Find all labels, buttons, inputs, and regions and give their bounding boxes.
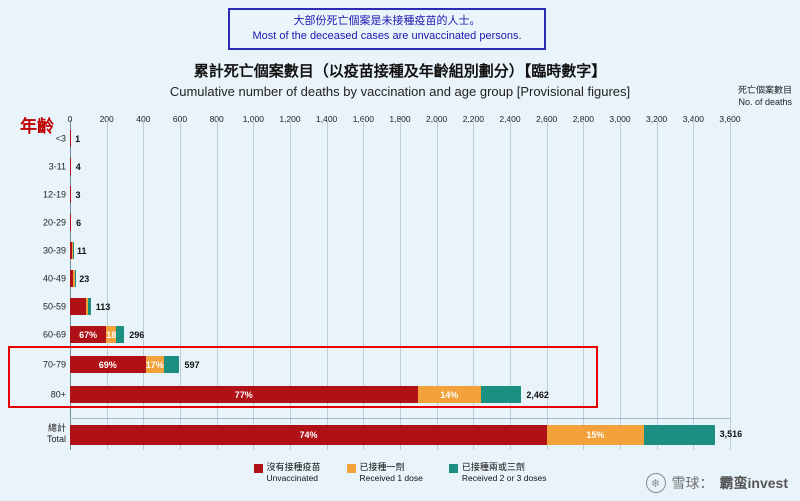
snowball-logo-icon: ❄	[646, 473, 666, 493]
bar-total-label: 296	[129, 330, 144, 340]
bar-segment	[88, 298, 91, 315]
legend-swatch	[449, 464, 458, 473]
bar-segment	[70, 130, 71, 147]
legend-swatch	[347, 464, 356, 473]
bar-total-label: 4	[76, 162, 81, 172]
bar-total-label: 23	[79, 274, 89, 284]
legend-label: 已接種兩或三劑Received 2 or 3 doses	[462, 462, 547, 484]
bar-segment	[644, 425, 715, 445]
y-axis-row-label: 40-49	[43, 273, 66, 284]
deaths-axis-label: 死亡個案數目 No. of deaths	[738, 84, 792, 108]
y-axis-row-label: 3-11	[49, 161, 66, 172]
y-axis-row-label: 12-19	[43, 189, 66, 200]
watermark-user: 霸蛮invest	[720, 473, 788, 493]
bar-segment	[70, 214, 71, 231]
bar-row	[70, 298, 91, 315]
y-axis-row-label: 60-69	[43, 329, 66, 340]
legend-label-en: Unvaccinated	[267, 473, 321, 484]
bar-row	[70, 186, 71, 203]
bar-row	[70, 158, 71, 175]
total-separator	[70, 418, 730, 419]
legend-swatch	[254, 464, 263, 473]
bar-total-label: 1	[75, 134, 80, 144]
legend-label-cn: 已接種一劑	[360, 462, 423, 473]
bar-total-label: 3,516	[720, 429, 743, 439]
bar-segment	[70, 186, 71, 203]
watermark-brand: 雪球：	[672, 473, 714, 493]
legend-label-cn: 已接種兩或三劑	[462, 462, 547, 473]
bar-row	[70, 214, 71, 231]
bar-segment: 15%	[547, 425, 644, 445]
legend-label-cn: 沒有接種疫苗	[267, 462, 321, 473]
legend-label: 已接種一劑Received 1 dose	[360, 462, 423, 484]
bar-total-label: 113	[96, 302, 111, 312]
y-axis-row-label: 70-79	[43, 359, 66, 370]
y-axis-row-label: <3	[56, 133, 66, 144]
bar-row	[70, 242, 74, 259]
legend-item[interactable]: 已接種一劑Received 1 dose	[347, 462, 423, 484]
watermark: ❄ 雪球： 霸蛮invest	[646, 473, 788, 493]
gridline	[693, 120, 694, 450]
bar-segment: 67%	[70, 326, 106, 343]
bar-segment	[70, 298, 86, 315]
bar-total-label: 11	[77, 246, 87, 256]
legend-item[interactable]: 已接種兩或三劑Received 2 or 3 doses	[449, 462, 547, 484]
bar-row	[70, 270, 76, 287]
bar-row	[70, 130, 71, 147]
legend-label-en: Received 2 or 3 doses	[462, 473, 547, 484]
bar-segment-percent: 18%	[106, 330, 116, 340]
bar-segment	[75, 270, 76, 287]
y-axis-row-label: 50-59	[43, 301, 66, 312]
bar-segment-percent: 15%	[547, 430, 644, 440]
gridline	[657, 120, 658, 450]
gridline	[620, 120, 621, 450]
deaths-axis-label-cn: 死亡個案數目	[738, 84, 792, 96]
bar-total-label: 3	[76, 190, 81, 200]
bar-segment: 18%	[106, 326, 116, 343]
bar-row: 67%18%	[70, 326, 124, 343]
page-title-cn: 累計死亡個案數目（以疫苗接種及年齡組別劃分）【臨時數字】	[0, 60, 800, 81]
age-axis-label: 年齡	[20, 112, 54, 137]
chart-plot-area: 1436112311367%18%29669%17%59777%14%2,462…	[70, 120, 730, 450]
legend-label-en: Received 1 dose	[360, 473, 423, 484]
bar-segment	[70, 158, 71, 175]
y-axis-row-label: 80+	[51, 389, 66, 400]
bar-row: 74%15%	[70, 425, 715, 445]
bar-total-label: 6	[76, 218, 81, 228]
callout-box: 大部份死亡個案是未接種疫苗的人士。 Most of the deceased c…	[228, 8, 546, 50]
bar-segment-percent: 74%	[70, 430, 547, 440]
bar-segment	[73, 242, 74, 259]
bar-segment	[116, 326, 124, 343]
y-axis-row-label: 30-39	[43, 245, 66, 256]
page-title-en: Cumulative number of deaths by vaccinati…	[0, 84, 800, 99]
legend-item[interactable]: 沒有接種疫苗Unvaccinated	[254, 462, 321, 484]
gridline	[730, 120, 731, 450]
deaths-axis-label-en: No. of deaths	[738, 96, 792, 108]
y-axis-row-label: 總計Total	[47, 423, 66, 445]
callout-text-en: Most of the deceased cases are unvaccina…	[252, 29, 521, 44]
bar-segment-percent: 67%	[70, 330, 106, 340]
highlight-box	[8, 346, 598, 408]
y-axis-row-label: 20-29	[43, 217, 66, 228]
callout-text-cn: 大部份死亡個案是未接種疫苗的人士。	[294, 14, 481, 29]
legend-label: 沒有接種疫苗Unvaccinated	[267, 462, 321, 484]
bar-segment: 74%	[70, 425, 547, 445]
